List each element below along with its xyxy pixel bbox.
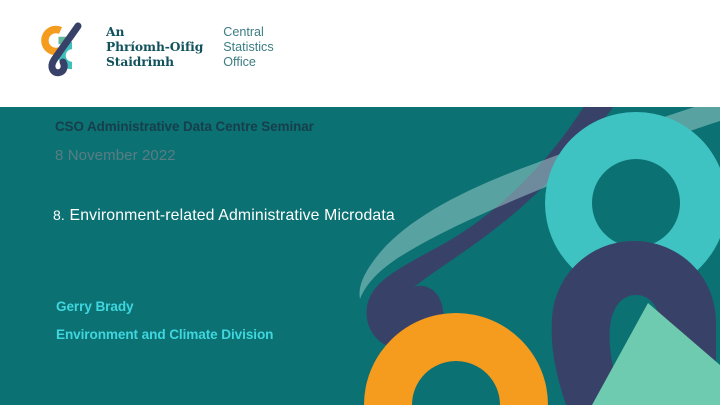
presenter-name: Gerry Brady [56,299,133,314]
cso-logo: An Phríomh-Oifig Staidrimh Central Stati… [38,17,274,79]
cso-logo-irish-text: An Phríomh-Oifig Staidrimh [106,17,203,69]
seminar-date: 8 November 2022 [55,147,176,164]
slide-content: CSO Administrative Data Centre Seminar 8… [0,107,720,405]
logo-irish-line-3: Staidrimh [106,55,203,70]
seminar-title: CSO Administrative Data Centre Seminar [55,119,314,134]
deck-number: 8. [53,207,65,223]
presenter-division: Environment and Climate Division [56,327,273,342]
logo-irish-line-1: An [106,25,203,40]
header-band: An Phríomh-Oifig Staidrimh Central Stati… [0,0,720,107]
logo-english-line-1: Central [223,25,273,40]
page-title: 8. Environment-related Administrative Mi… [53,207,395,225]
logo-irish-line-2: Phríomh-Oifig [106,40,203,55]
logo-english-line-3: Office [223,55,273,70]
logo-english-line-2: Statistics [223,40,273,55]
deck-title-text: Environment-related Administrative Micro… [70,207,395,224]
cso-logo-english-text: Central Statistics Office [223,17,273,69]
cso-logo-mark [38,17,94,79]
